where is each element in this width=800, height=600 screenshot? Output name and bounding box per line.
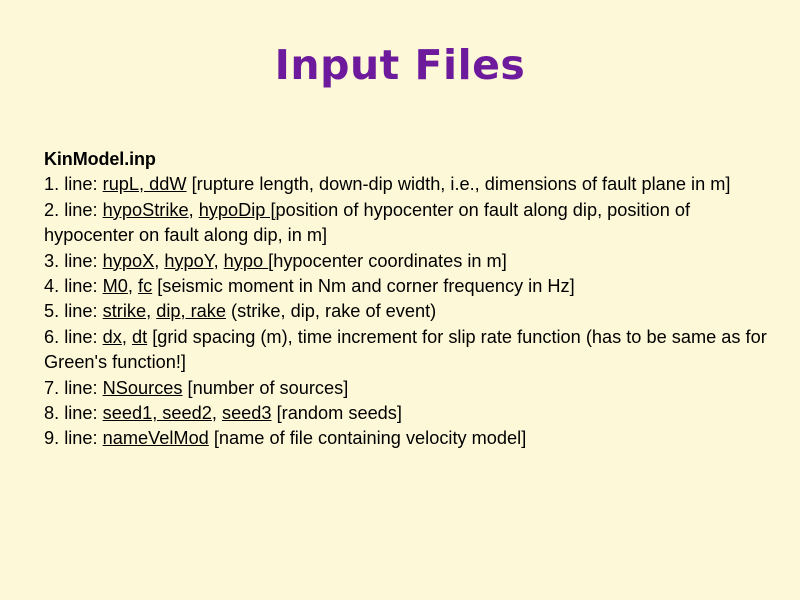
- slide-body-text: KinModel.inp 1. line: rupL, ddW [rupture…: [44, 147, 774, 452]
- line-vars-4a: M0: [103, 276, 128, 296]
- line-sep-8a: ,: [212, 403, 222, 423]
- line-number-7: 7. line:: [44, 378, 103, 398]
- line-vars-5b: dip, rake: [156, 301, 226, 321]
- input-file-name: KinModel.inp: [44, 147, 774, 172]
- line-desc-9: [name of file containing velocity model]: [209, 428, 526, 448]
- line-vars-4b: fc: [138, 276, 152, 296]
- line-vars-2b: hypoDip [: [199, 200, 276, 220]
- line-vars-8b: seed3: [222, 403, 272, 423]
- spec-line-1: 1. line: rupL, ddW [rupture length, down…: [44, 172, 774, 197]
- spec-line-4: 4. line: M0, fc [seismic moment in Nm an…: [44, 274, 774, 299]
- line-vars-9: nameVelMod: [103, 428, 209, 448]
- line-sep-2a: ,: [189, 200, 199, 220]
- line-sep-4a: ,: [128, 276, 138, 296]
- line-number-4: 4. line:: [44, 276, 103, 296]
- line-desc-7: [number of sources]: [183, 378, 349, 398]
- line-sep-6a: ,: [122, 327, 132, 347]
- line-desc-3: [hypocenter coordinates in m]: [268, 251, 507, 271]
- line-number-9: 9. line:: [44, 428, 103, 448]
- presentation-slide: Input Files KinModel.inp 1. line: rupL, …: [0, 0, 800, 600]
- line-desc-8: [random seeds]: [272, 403, 402, 423]
- line-vars-3c: hypo: [224, 251, 269, 271]
- spec-line-3: 3. line: hypoX, hypoY, hypo [hypocenter …: [44, 249, 774, 274]
- line-sep-3b: ,: [214, 251, 224, 271]
- line-desc-5: (strike, dip, rake of event): [226, 301, 436, 321]
- line-desc-4: [seismic moment in Nm and corner frequen…: [152, 276, 575, 296]
- line-vars-6b: dt: [132, 327, 147, 347]
- line-desc-6: [grid spacing (m), time increment for sl…: [44, 327, 767, 372]
- spec-line-2: 2. line: hypoStrike, hypoDip [position o…: [44, 198, 774, 249]
- spec-line-8: 8. line: seed1, seed2, seed3 [random see…: [44, 401, 774, 426]
- line-vars-1: rupL, ddW: [103, 174, 187, 194]
- line-vars-2a: hypoStrike: [103, 200, 189, 220]
- spec-line-6: 6. line: dx, dt [grid spacing (m), time …: [44, 325, 774, 376]
- line-desc-1: [rupture length, down-dip width, i.e., d…: [187, 174, 731, 194]
- line-number-3: 3. line:: [44, 251, 103, 271]
- line-number-8: 8. line:: [44, 403, 103, 423]
- line-number-5: 5. line:: [44, 301, 103, 321]
- line-vars-3a: hypoX: [103, 251, 155, 271]
- line-number-6: 6. line:: [44, 327, 103, 347]
- line-vars-5a: strike,: [103, 301, 152, 321]
- line-sep-3a: ,: [154, 251, 164, 271]
- line-vars-7: NSources: [103, 378, 183, 398]
- line-number-1: 1. line:: [44, 174, 103, 194]
- spec-line-7: 7. line: NSources [number of sources]: [44, 376, 774, 401]
- line-vars-6a: dx: [103, 327, 122, 347]
- spec-line-9: 9. line: nameVelMod [name of file contai…: [44, 426, 774, 451]
- page-title: Input Files: [0, 44, 800, 87]
- line-number-2: 2. line:: [44, 200, 103, 220]
- spec-line-5: 5. line: strike, dip, rake (strike, dip,…: [44, 299, 774, 324]
- line-vars-8a: seed1, seed2: [103, 403, 212, 423]
- line-vars-3b: hypoY: [164, 251, 213, 271]
